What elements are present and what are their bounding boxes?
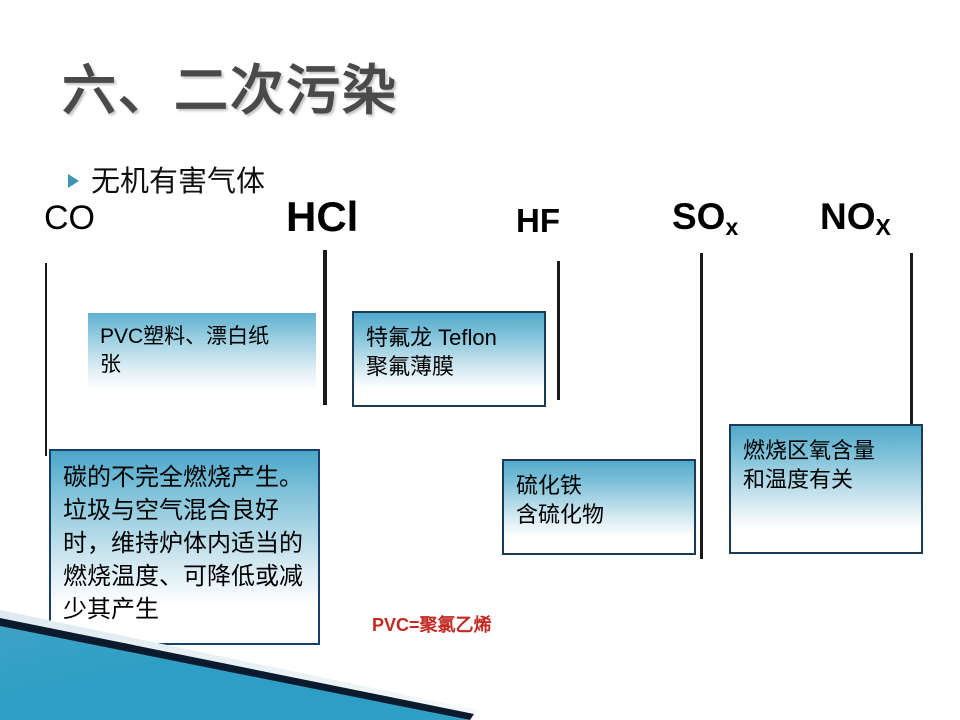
gas-heading-hf: HF: [516, 204, 560, 237]
gas-heading-hf-text: HF: [516, 202, 560, 239]
info-box-teflon: 特氟龙 Teflon 聚氟薄膜: [352, 311, 546, 407]
gas-heading-co-text: CO: [44, 199, 95, 237]
info-box-nox: 燃烧区氧含量 和温度有关: [729, 424, 923, 554]
gas-heading-nox-subscript: X: [876, 214, 891, 240]
footnote-pvc-definition: PVC=聚氯乙烯: [372, 611, 492, 637]
connector-line-hcl: [323, 250, 327, 405]
connector-line-sox: [700, 253, 703, 559]
slide-canvas: 六、二次污染 无机有害气体 CO HCl HF SOx NOX PVC塑料、漂白…: [0, 0, 960, 720]
info-box-nox-line1: 燃烧区氧含量: [743, 436, 909, 465]
info-box-co-text: 碳的不完全燃烧产生。垃圾与空气混合良好时，维持炉体内适当的燃烧温度、可降低或减少…: [63, 464, 303, 623]
info-box-sulfide: 硫化铁 含硫化物: [502, 459, 696, 555]
connector-line-nox: [910, 253, 913, 435]
info-box-teflon-line2: 聚氟薄膜: [366, 352, 532, 381]
gas-heading-sox: SOx: [672, 198, 738, 235]
gas-heading-nox: NOX: [820, 198, 891, 235]
info-box-pvc: PVC塑料、漂白纸 张: [88, 313, 316, 401]
connector-line-co: [45, 263, 47, 456]
triangle-right-icon: [68, 174, 79, 188]
info-box-sulfide-line1: 硫化铁: [516, 471, 682, 500]
info-box-co: 碳的不完全燃烧产生。垃圾与空气混合良好时，维持炉体内适当的燃烧温度、可降低或减少…: [49, 449, 320, 645]
info-box-nox-line2: 和温度有关: [743, 465, 909, 494]
info-box-teflon-line1: 特氟龙 Teflon: [366, 323, 532, 352]
bullet-row: 无机有害气体: [68, 158, 265, 200]
gas-heading-sox-subscript: x: [725, 214, 738, 240]
gas-heading-sox-text: SO: [672, 196, 725, 237]
connector-line-hf: [557, 261, 560, 400]
info-box-pvc-line1: PVC塑料、漂白纸: [100, 323, 304, 351]
page-title: 六、二次污染: [62, 46, 398, 125]
gas-heading-hcl-text: HCl: [286, 193, 358, 240]
info-box-pvc-line2: 张: [100, 351, 304, 379]
gas-heading-hcl: HCl: [286, 196, 358, 238]
gas-heading-co: CO: [44, 201, 95, 235]
info-box-sulfide-line2: 含硫化物: [516, 500, 682, 529]
bullet-label: 无机有害气体: [91, 158, 265, 200]
gas-heading-nox-text: NO: [820, 196, 876, 237]
